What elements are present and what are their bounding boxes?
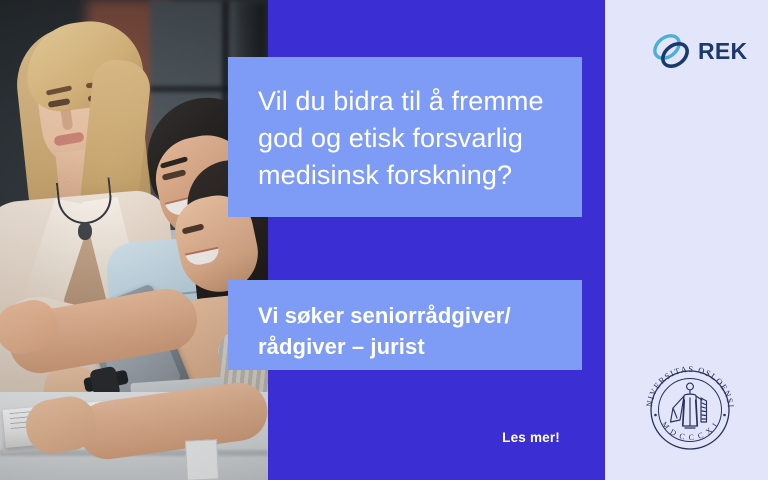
- read-more-cta[interactable]: Les mer!: [228, 430, 582, 445]
- rek-logo[interactable]: REK: [648, 28, 754, 74]
- banner-canvas: Vil du bidra til å fremme god og etisk f…: [0, 0, 768, 480]
- rek-wordmark: REK: [698, 40, 747, 63]
- photo-paper-stand: [185, 439, 219, 480]
- headline-text: Vil du bidra til å fremme god og etisk f…: [258, 83, 552, 194]
- headline-box: Vil du bidra til å fremme god og etisk f…: [228, 57, 582, 217]
- uio-seal-icon: UNIVERSITAS OSLOENSIS M D C C C X I: [640, 360, 740, 460]
- subheadline-box: Vi søker seniorrådgiver/ rådgiver – juri…: [228, 280, 582, 370]
- rek-rings-icon: [648, 29, 694, 73]
- photo-woman-pendant: [78, 222, 92, 240]
- subheadline-text: Vi søker seniorrådgiver/ rådgiver – juri…: [258, 300, 552, 362]
- read-more-label[interactable]: Les mer!: [502, 430, 560, 445]
